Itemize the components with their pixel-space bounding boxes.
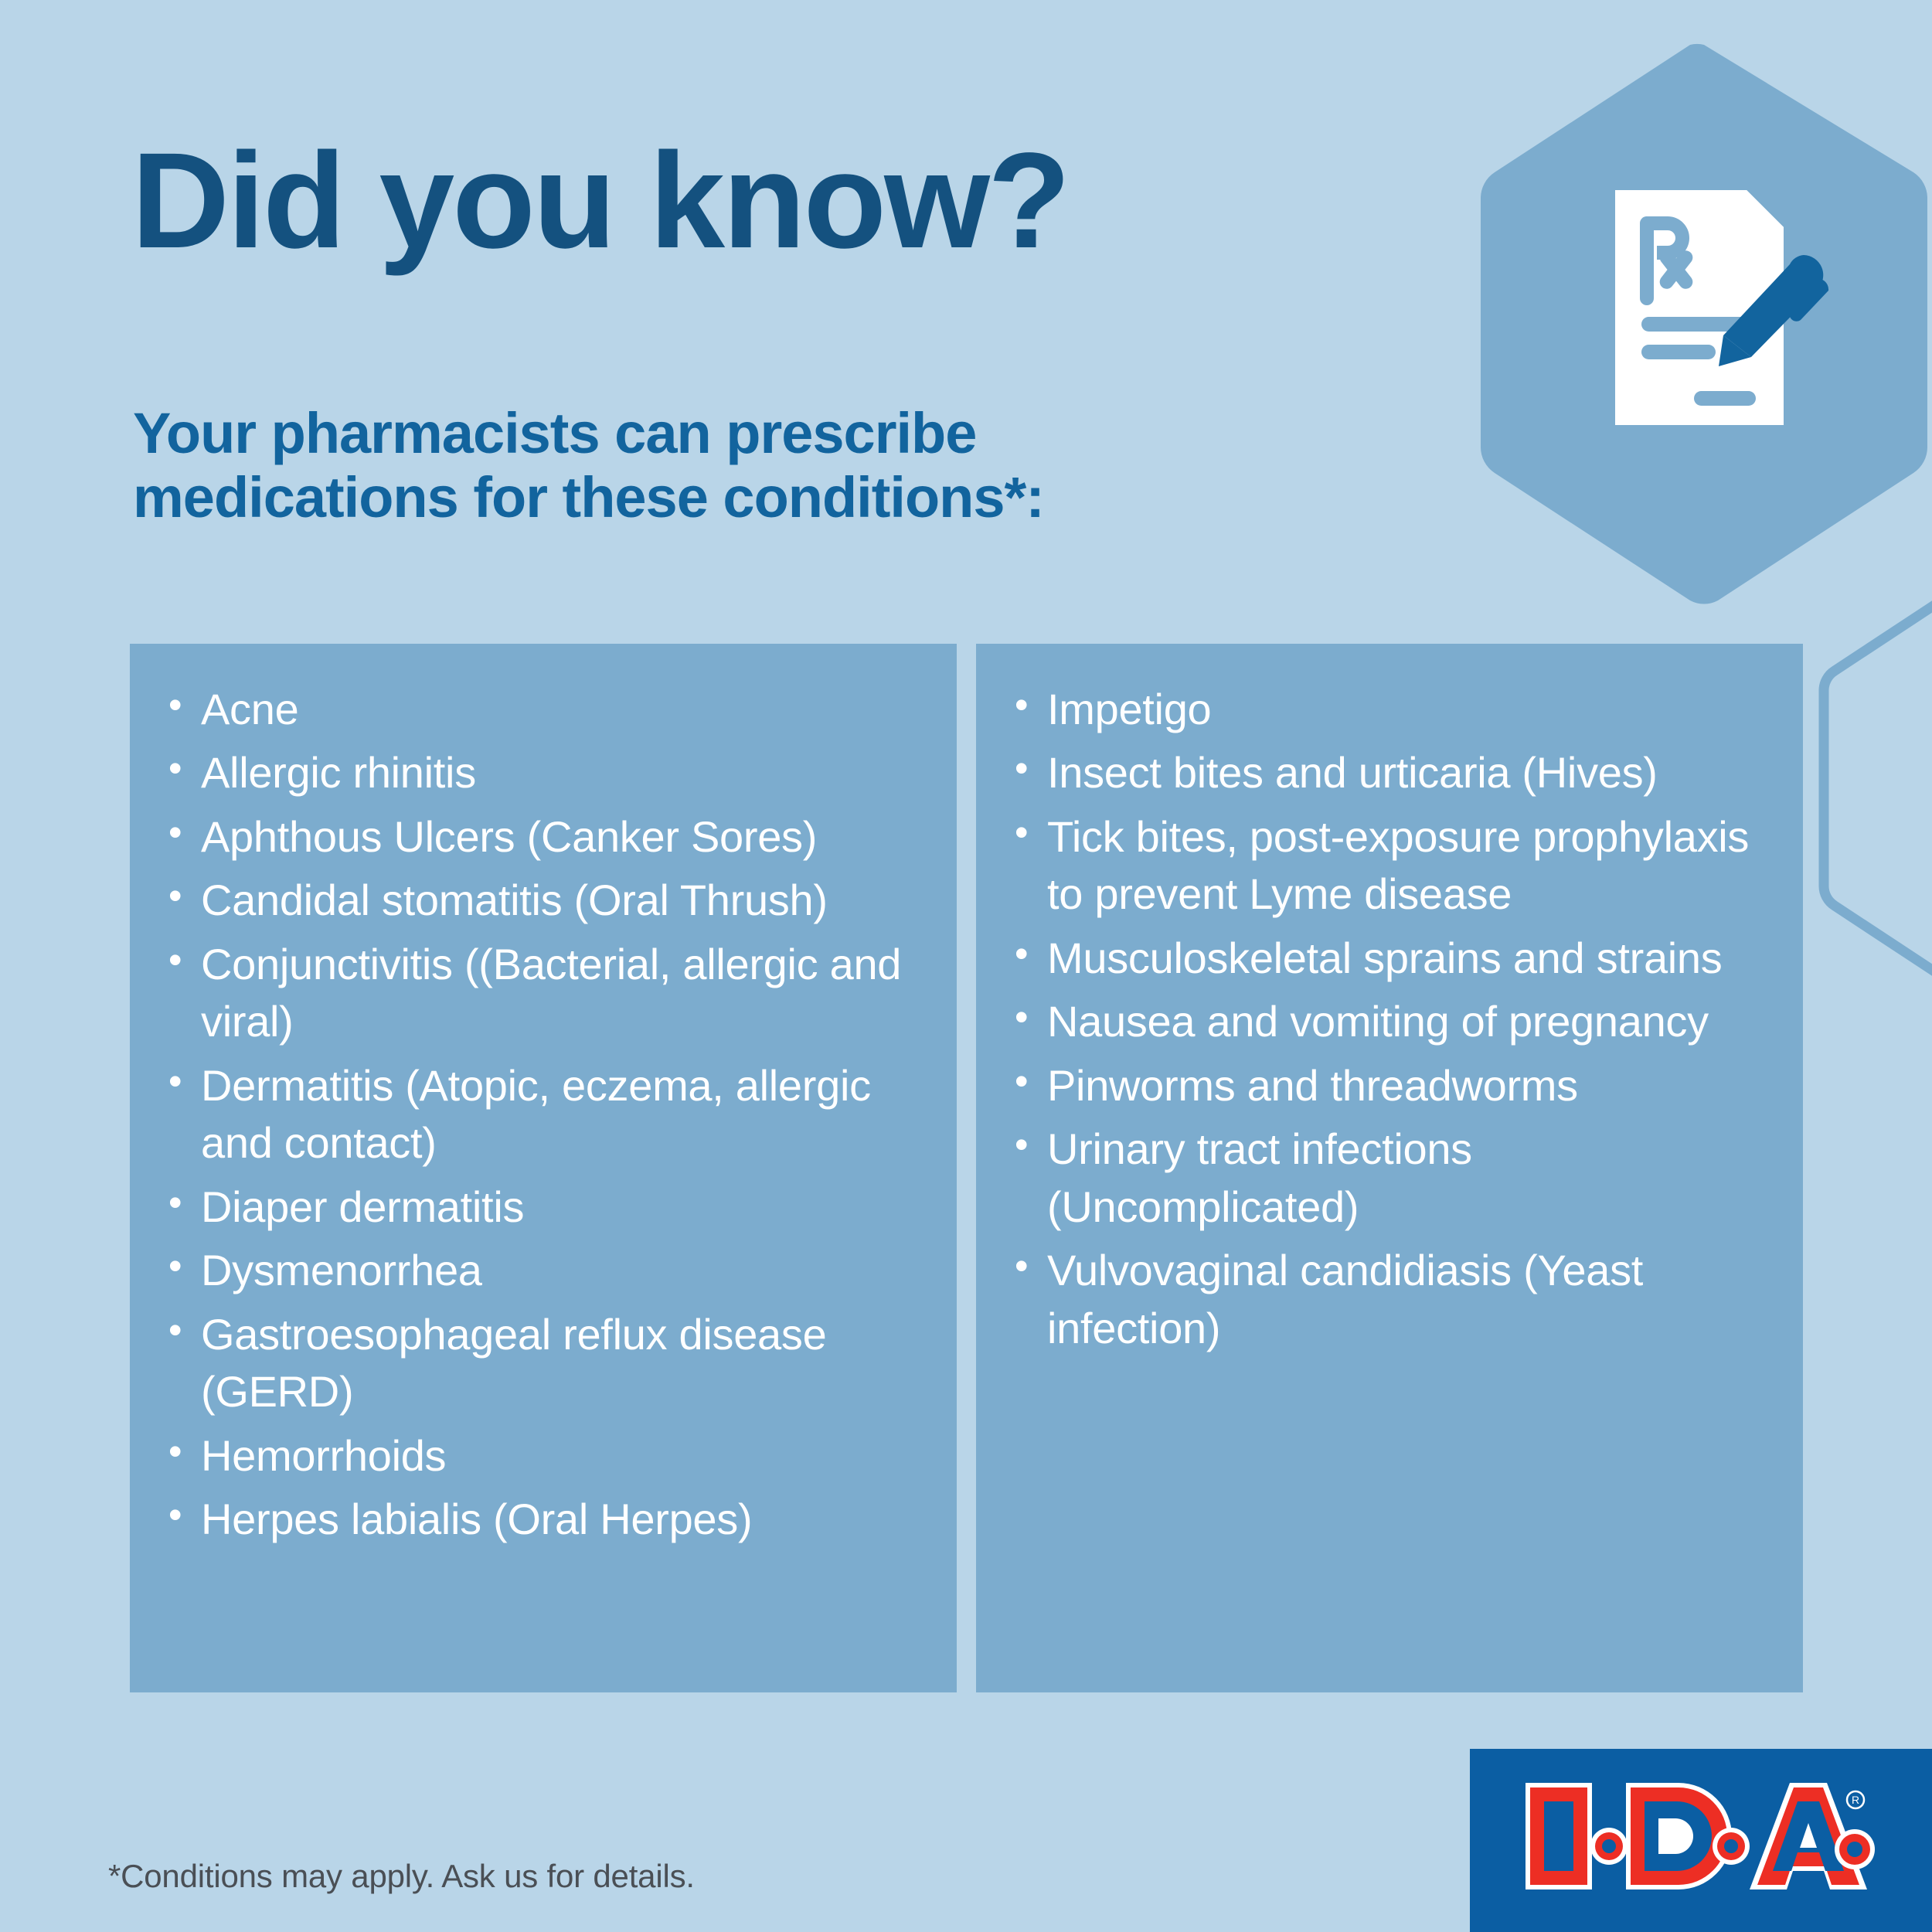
list-item: Hemorrhoids [161,1427,926,1485]
conditions-list-left: Acne Allergic rhinitis Aphthous Ulcers (… [161,681,926,1549]
list-item: Herpes labialis (Oral Herpes) [161,1491,926,1548]
list-item: Nausea and vomiting of pregnancy [1007,993,1772,1050]
conditions-panel-right: Impetigo Insect bites and urticaria (Hiv… [976,644,1803,1692]
list-item: Aphthous Ulcers (Canker Sores) [161,808,926,866]
page-subtitle: Your pharmacists can prescribe medicatio… [133,402,1044,530]
trademark-symbol: R [1852,1794,1859,1806]
list-item: Dysmenorrhea [161,1242,926,1299]
rx-prescription-icon [1609,184,1833,431]
list-item: Diaper dermatitis [161,1179,926,1236]
list-item: Vulvovaginal candidiasis (Yeast infectio… [1007,1242,1772,1357]
list-item: Pinworms and threadworms [1007,1057,1772,1114]
list-item: Conjunctivitis ((Bacterial, allergic and… [161,936,926,1051]
list-item: Candidal stomatitis (Oral Thrush) [161,872,926,929]
conditions-list-right: Impetigo Insect bites and urticaria (Hiv… [1007,681,1772,1357]
hexagon-outline-icon [1801,572,1932,1005]
conditions-panels: Acne Allergic rhinitis Aphthous Ulcers (… [130,644,1803,1692]
list-item: Allergic rhinitis [161,744,926,801]
subtitle-line-1: Your pharmacists can prescribe [133,402,1044,466]
conditions-panel-left: Acne Allergic rhinitis Aphthous Ulcers (… [130,644,957,1692]
footnote-text: *Conditions may apply. Ask us for detail… [108,1858,695,1895]
list-item: Tick bites, post-exposure prophylaxis to… [1007,808,1772,923]
subtitle-line-2: medications for these conditions*: [133,466,1044,530]
ida-logo: R [1518,1778,1881,1894]
list-item: Dermatitis (Atopic, eczema, allergic and… [161,1057,926,1172]
list-item: Acne [161,681,926,738]
list-item: Insect bites and urticaria (Hives) [1007,744,1772,801]
page-title: Did you know? [131,133,1069,269]
list-item: Urinary tract infections (Uncomplicated) [1007,1121,1772,1236]
list-item: Impetigo [1007,681,1772,738]
list-item: Musculoskeletal sprains and strains [1007,930,1772,987]
list-item: Gastroesophageal reflux disease (GERD) [161,1306,926,1421]
poster-canvas: Did you know? Your pharmacists can presc… [0,0,1932,1932]
ida-logo-plate: R [1470,1749,1932,1932]
